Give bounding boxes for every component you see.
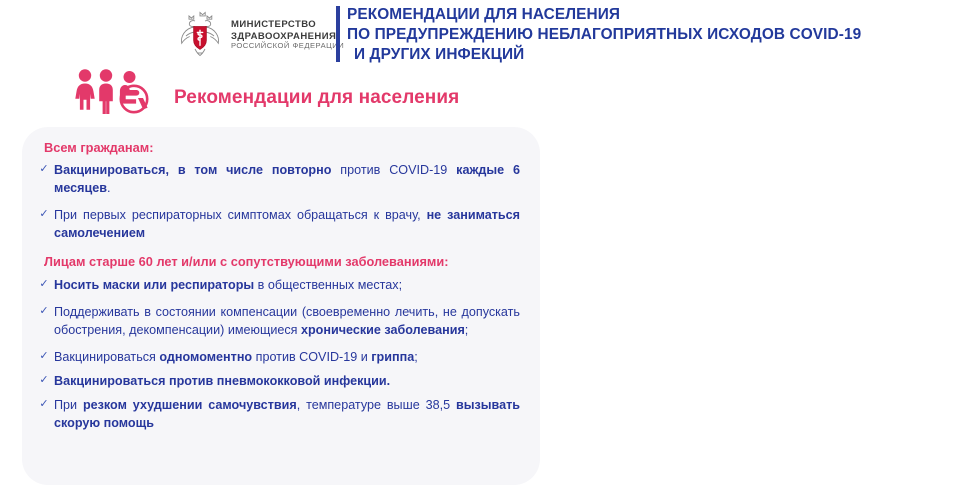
- list-item-text: Поддерживать в состоянии компенсации (св…: [54, 303, 524, 339]
- people-group-wheelchair-icon: [72, 68, 160, 114]
- page-title: РЕКОМЕНДАЦИИ ДЛЯ НАСЕЛЕНИЯ ПО ПРЕДУПРЕЖД…: [347, 5, 947, 65]
- ministry-name: МИНИСТЕРСТВО ЗДРАВООХРАНЕНИЯ РОССИЙСКОЙ …: [231, 17, 344, 50]
- list-item: ✓ Носить маски или респираторы в обществ…: [34, 276, 524, 294]
- group-title-all-citizens: Всем гражданам:: [44, 140, 524, 155]
- check-icon: ✓: [34, 206, 54, 220]
- page-title-line-3: И ДРУГИХ ИНФЕКЦИЙ: [347, 45, 947, 65]
- list-item: ✓ При первых респираторных симптомах обр…: [34, 206, 524, 242]
- check-icon: ✓: [34, 372, 54, 386]
- check-icon: ✓: [34, 348, 54, 362]
- list-item: ✓ Вакцинироваться, в том числе повторно …: [34, 161, 524, 197]
- list-item-text: При первых респираторных симптомах обращ…: [54, 206, 524, 242]
- list-item-text: Носить маски или респираторы в обществен…: [54, 276, 524, 294]
- check-icon: ✓: [34, 276, 54, 290]
- title-divider: [336, 6, 340, 62]
- section-title: Рекомендации для населения: [174, 74, 459, 109]
- list-item-text: При резком ухудшении самочувствия, темпе…: [54, 396, 524, 432]
- list-item-text: Вакцинироваться одномоментно против COVI…: [54, 348, 524, 366]
- check-icon: ✓: [34, 161, 54, 175]
- list-item: ✓ Поддерживать в состоянии компенсации (…: [34, 303, 524, 339]
- ministry-line-1: МИНИСТЕРСТВО: [231, 19, 344, 30]
- russian-double-headed-eagle-emblem-icon: [176, 9, 224, 59]
- list-item: ✓ Вакцинироваться одномоментно против CO…: [34, 348, 524, 366]
- recommendations-card: Всем гражданам: ✓ Вакцинироваться, в том…: [22, 127, 540, 485]
- check-icon: ✓: [34, 303, 54, 317]
- list-item-text: Вакцинироваться против пневмококковой ин…: [54, 372, 524, 390]
- section-header: Рекомендации для населения: [72, 68, 459, 114]
- check-icon: ✓: [34, 396, 54, 410]
- ministry-logo: МИНИСТЕРСТВО ЗДРАВООХРАНЕНИЯ РОССИЙСКОЙ …: [176, 9, 344, 59]
- ministry-line-3: РОССИЙСКОЙ ФЕДЕРАЦИИ: [231, 42, 344, 51]
- page-title-line-1: РЕКОМЕНДАЦИИ ДЛЯ НАСЕЛЕНИЯ: [347, 5, 947, 25]
- page-title-line-2: ПО ПРЕДУПРЕЖДЕНИЮ НЕБЛАГОПРИЯТНЫХ ИСХОДО…: [347, 25, 947, 45]
- list-item: ✓ Вакцинироваться против пневмококковой …: [34, 372, 524, 390]
- list-item-text: Вакцинироваться, в том числе повторно пр…: [54, 161, 524, 197]
- list-item: ✓ При резком ухудшении самочувствия, тем…: [34, 396, 524, 432]
- page-header: МИНИСТЕРСТВО ЗДРАВООХРАНЕНИЯ РОССИЙСКОЙ …: [0, 0, 965, 66]
- group-title-elderly-comorbidities: Лицам старше 60 лет и/или с сопутствующи…: [44, 254, 524, 269]
